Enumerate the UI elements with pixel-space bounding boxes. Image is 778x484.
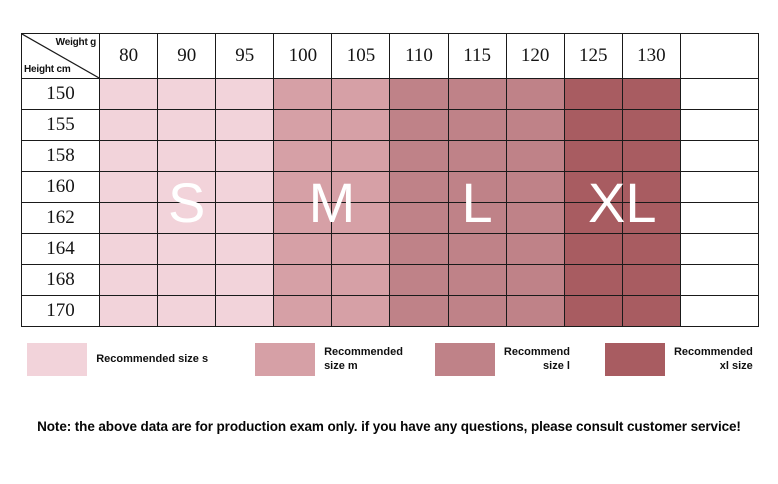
legend-label: Recommended size m [315,346,403,374]
table-row: 160 [22,172,759,203]
legend-item: Recommended xl size [605,343,753,376]
size-cell [564,265,622,296]
row-header-height: 155 [22,110,100,141]
size-cell [622,110,680,141]
row-header-height: 168 [22,265,100,296]
column-header-weight: 100 [274,34,332,79]
size-cell [216,172,274,203]
row-header-height: 160 [22,172,100,203]
size-cell [158,203,216,234]
size-cell [332,203,390,234]
size-cell [448,141,506,172]
size-chart-body: Weight gHeight cm80909510010511011512012… [22,34,759,327]
blank-cell [680,234,758,265]
column-header-weight: 130 [622,34,680,79]
size-cell [332,296,390,327]
legend-label: Recommended xl size [665,346,753,374]
size-cell [274,203,332,234]
size-cell [100,110,158,141]
size-cell [216,79,274,110]
size-cell [622,172,680,203]
blank-cell [680,172,758,203]
size-cell [216,234,274,265]
size-cell [216,141,274,172]
size-cell [390,265,448,296]
legend-item: Recommend size l [435,343,570,376]
note-text: Note: the above data are for production … [0,419,778,434]
size-cell [158,110,216,141]
size-cell [506,296,564,327]
row-header-height: 158 [22,141,100,172]
table-row: 164 [22,234,759,265]
size-cell [622,141,680,172]
blank-cell [680,79,758,110]
corner-inner: Weight gHeight cm [22,34,99,78]
column-header-weight: 105 [332,34,390,79]
size-cell [622,265,680,296]
legend-swatch [435,343,495,376]
size-cell [332,110,390,141]
size-cell [390,296,448,327]
size-cell [100,203,158,234]
size-cell [100,234,158,265]
size-cell [158,296,216,327]
legend-label: Recommended size s [87,353,208,367]
size-cell [158,79,216,110]
size-cell [506,79,564,110]
size-cell [390,79,448,110]
size-cell [622,296,680,327]
size-cell [448,203,506,234]
size-cell [506,234,564,265]
column-header-weight: 110 [390,34,448,79]
column-header-weight: 95 [216,34,274,79]
size-cell [100,172,158,203]
size-cell [564,296,622,327]
legend-swatch [605,343,665,376]
size-cell [274,172,332,203]
size-cell [216,203,274,234]
size-cell [390,141,448,172]
size-cell [564,234,622,265]
size-cell [448,79,506,110]
size-cell [100,79,158,110]
size-cell [622,79,680,110]
size-cell [390,203,448,234]
size-cell [332,172,390,203]
size-cell [274,141,332,172]
legend-swatch [255,343,315,376]
size-cell [100,296,158,327]
size-cell [274,265,332,296]
size-cell [506,203,564,234]
size-cell [100,141,158,172]
size-cell [448,234,506,265]
blank-cell [680,110,758,141]
size-cell [216,265,274,296]
height-axis-label: Height cm [24,64,71,75]
size-chart-container: Weight gHeight cm80909510010511011512012… [21,33,759,327]
size-cell [622,234,680,265]
column-header-weight: 115 [448,34,506,79]
column-header-blank [680,34,758,79]
size-cell [274,110,332,141]
table-row: 170 [22,296,759,327]
table-row: 162 [22,203,759,234]
size-cell [564,203,622,234]
column-header-weight: 120 [506,34,564,79]
size-cell [390,234,448,265]
size-cell [448,265,506,296]
size-chart-table: Weight gHeight cm80909510010511011512012… [21,33,759,327]
size-cell [274,79,332,110]
legend-item: Recommended size m [255,343,403,376]
column-header-weight: 80 [100,34,158,79]
size-cell [564,172,622,203]
size-cell [390,172,448,203]
size-cell [506,172,564,203]
table-row: 168 [22,265,759,296]
column-header-weight: 90 [158,34,216,79]
size-cell [390,110,448,141]
size-cell [564,110,622,141]
size-cell [622,203,680,234]
size-cell [448,296,506,327]
row-header-height: 170 [22,296,100,327]
legend: Recommended size sRecommended size mReco… [21,343,759,376]
size-cell [448,110,506,141]
legend-label: Recommend size l [495,346,570,374]
size-cell [332,141,390,172]
blank-cell [680,141,758,172]
blank-cell [680,296,758,327]
size-cell [158,141,216,172]
corner-header-cell: Weight gHeight cm [22,34,100,79]
blank-cell [680,265,758,296]
table-row: 155 [22,110,759,141]
size-cell [332,79,390,110]
size-cell [158,172,216,203]
row-header-height: 150 [22,79,100,110]
blank-cell [680,203,758,234]
size-cell [216,296,274,327]
size-cell [564,141,622,172]
size-cell [274,234,332,265]
table-row: 158 [22,141,759,172]
size-cell [332,234,390,265]
column-header-weight: 125 [564,34,622,79]
row-header-height: 162 [22,203,100,234]
size-cell [506,141,564,172]
row-header-height: 164 [22,234,100,265]
size-cell [274,296,332,327]
size-cell [100,265,158,296]
size-cell [506,110,564,141]
size-cell [332,265,390,296]
size-cell [216,110,274,141]
weight-axis-label: Weight g [56,37,96,48]
table-header-row: Weight gHeight cm80909510010511011512012… [22,34,759,79]
size-cell [158,265,216,296]
size-cell [506,265,564,296]
size-cell [158,234,216,265]
table-row: 150 [22,79,759,110]
size-cell [564,79,622,110]
legend-item: Recommended size s [27,343,208,376]
legend-swatch [27,343,87,376]
size-cell [448,172,506,203]
